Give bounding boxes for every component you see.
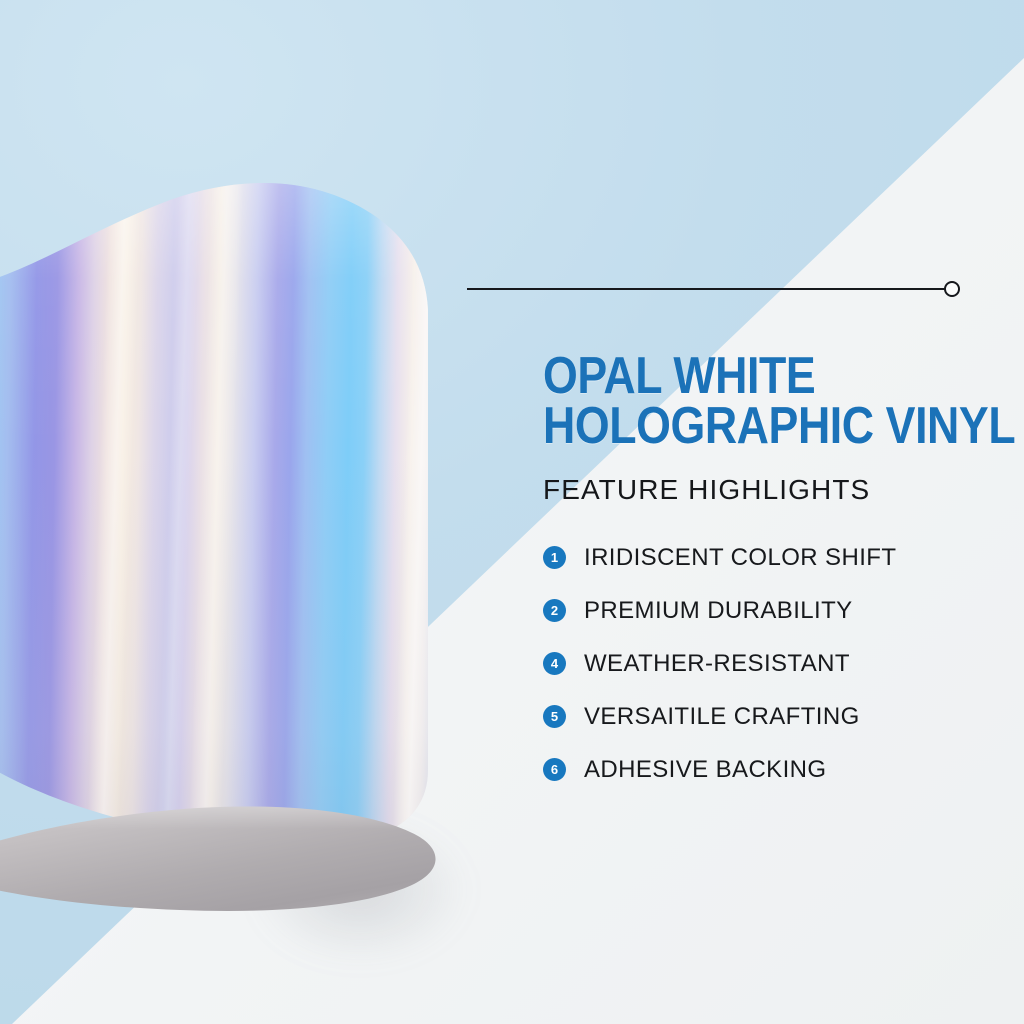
product-infographic: OPAL WHITE HOLOGRAPHIC VINYL FEATURE HIG… — [0, 0, 1024, 1024]
title-line-1: OPAL WHITE — [543, 352, 947, 402]
list-item: 6 ADHESIVE BACKING — [543, 756, 1013, 784]
circle-outline-icon — [944, 281, 960, 297]
list-item: 4 WEATHER-RESISTANT — [543, 650, 1013, 678]
list-item: 2 PREMIUM DURABILITY — [543, 597, 1013, 625]
title-line-2: HOLOGRAPHIC VINYL — [543, 402, 947, 452]
feature-number-badge: 1 — [543, 546, 566, 569]
product-info-panel: OPAL WHITE HOLOGRAPHIC VINYL FEATURE HIG… — [543, 352, 1013, 784]
feature-number-badge: 6 — [543, 758, 566, 781]
roll-highlight-streaks — [0, 170, 472, 850]
page-title: OPAL WHITE HOLOGRAPHIC VINYL — [543, 352, 947, 452]
feature-label: PREMIUM DURABILITY — [584, 597, 853, 625]
list-item: 1 IRIDISCENT COLOR SHIFT — [543, 544, 1013, 572]
section-heading: FEATURE HIGHLIGHTS — [543, 474, 1013, 506]
feature-number-badge: 5 — [543, 705, 566, 728]
feature-label: ADHESIVE BACKING — [584, 756, 826, 784]
feature-number-badge: 2 — [543, 599, 566, 622]
feature-number-badge: 4 — [543, 652, 566, 675]
list-item: 5 VERSAITILE CRAFTING — [543, 703, 1013, 731]
feature-label: VERSAITILE CRAFTING — [584, 703, 860, 731]
feature-label: WEATHER-RESISTANT — [584, 650, 850, 678]
feature-label: IRIDISCENT COLOR SHIFT — [584, 544, 896, 572]
holographic-vinyl-roll-image — [0, 170, 520, 900]
feature-list: 1 IRIDISCENT COLOR SHIFT 2 PREMIUM DURAB… — [543, 544, 1013, 784]
callout-leader-line — [467, 288, 945, 290]
